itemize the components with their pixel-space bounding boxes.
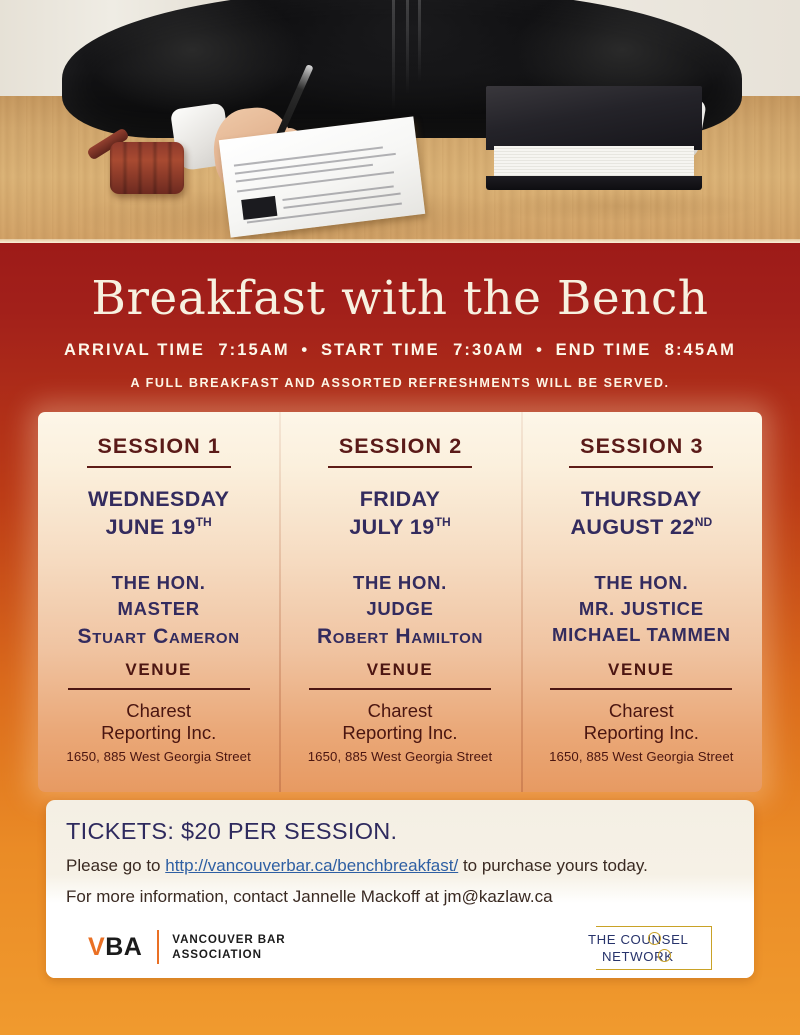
event-times: ARRIVAL TIME 7:15AM • START TIME 7:30AM … xyxy=(0,341,800,360)
arrival-time-label: ARRIVAL TIME xyxy=(64,341,205,359)
session-2-date: FRIDAY JULY 19TH xyxy=(287,485,512,542)
session-3-venue-label: VENUE xyxy=(521,660,762,680)
session-2-month-day: JULY 19 xyxy=(349,515,434,539)
session-2-venue-name-line-2: Reporting Inc. xyxy=(342,722,457,743)
session-1-date: WEDNESDAY JUNE 19TH xyxy=(46,485,271,542)
session-2-title-line-1: THE HON. xyxy=(353,572,447,593)
session-1-title-line-1: THE HON. xyxy=(112,572,206,593)
session-3-venue-name: Charest Reporting Inc. xyxy=(521,700,762,744)
tickets-url-link[interactable]: http://vancouverbar.ca/benchbreakfast/ xyxy=(165,856,458,875)
session-2-weekday: FRIDAY xyxy=(360,487,440,511)
session-column-2: SESSION 2 FRIDAY JULY 19TH THE HON. JUDG… xyxy=(279,412,520,792)
session-3-heading-number: 3 xyxy=(691,434,703,458)
session-1-speaker: THE HON. MASTER Stuart Cameron xyxy=(46,570,271,652)
session-3-venue-name-line-1: Charest xyxy=(609,700,674,721)
session-1-date-suffix: TH xyxy=(196,515,212,529)
session-3-date: THURSDAY AUGUST 22ND xyxy=(529,485,754,542)
vba-logo: VBA VANCOUVER BAR ASSOCIATION xyxy=(88,930,286,964)
session-3-month-day: AUGUST 22 xyxy=(570,515,694,539)
session-3-venue-address: 1650, 885 West Georgia Street xyxy=(521,749,762,764)
session-2-venue-name: Charest Reporting Inc. xyxy=(279,700,520,744)
arrival-time-value: 7:15AM xyxy=(218,341,289,359)
session-column-3: SESSION 3 THURSDAY AUGUST 22ND THE HON. … xyxy=(521,412,762,792)
times-separator-1: • xyxy=(296,341,314,359)
photo-gavel-head xyxy=(110,142,184,194)
session-2-venue-name-line-1: Charest xyxy=(368,700,433,721)
session-2-title-line-2: JUDGE xyxy=(366,598,433,619)
session-2-heading-text: SESSION xyxy=(339,434,442,458)
counsel-network-ring-icon-2 xyxy=(658,949,671,962)
session-2-venue-address: 1650, 885 West Georgia Street xyxy=(279,749,520,764)
session-1-heading-text: SESSION xyxy=(97,434,200,458)
vba-logo-divider xyxy=(157,930,159,964)
footer-logo-bar: VBA VANCOUVER BAR ASSOCIATION THE COUNSE… xyxy=(46,918,754,978)
session-3-title-line-1: THE HON. xyxy=(594,572,688,593)
session-3-speaker: THE HON. MR. JUSTICE MICHAEL TAMMEN xyxy=(529,570,754,649)
vba-logo-letter-v: V xyxy=(88,933,105,961)
end-time-value: 8:45AM xyxy=(665,341,736,359)
session-3-heading: SESSION 3 xyxy=(529,434,754,459)
hero-photo-judge-signing xyxy=(0,0,800,243)
tickets-contact-line: For more information, contact Jannelle M… xyxy=(66,887,754,907)
session-1-weekday: WEDNESDAY xyxy=(88,487,229,511)
tickets-purchase-line: Please go to http://vancouverbar.ca/benc… xyxy=(66,856,754,876)
session-1-heading: SESSION 1 xyxy=(46,434,271,459)
session-1-venue-name-line-1: Charest xyxy=(126,700,191,721)
session-2-judge-name: Robert Hamilton xyxy=(317,625,483,648)
session-2-date-suffix: TH xyxy=(435,515,451,529)
page-title: Breakfast with the Bench xyxy=(0,243,800,322)
session-2-venue-label: VENUE xyxy=(279,660,520,680)
page-title-text: Breakfast with the Bench xyxy=(91,271,708,326)
tickets-heading: TICKETS: $20 PER SESSION. xyxy=(66,818,754,845)
session-3-venue-name-line-2: Reporting Inc. xyxy=(584,722,699,743)
breakfast-note: A FULL BREAKFAST AND ASSORTED REFRESHMEN… xyxy=(0,376,800,390)
counsel-network-line-1: THE COUNSEL xyxy=(588,932,688,947)
session-1-venue-rule xyxy=(68,688,250,690)
start-time-value: 7:30AM xyxy=(453,341,524,359)
session-1-heading-number: 1 xyxy=(208,434,220,458)
session-2-heading-rule xyxy=(328,466,472,468)
session-3-heading-rule xyxy=(569,466,713,468)
session-3-heading-text: SESSION xyxy=(580,434,683,458)
session-1-judge-name: Stuart Cameron xyxy=(78,625,240,648)
photo-law-book xyxy=(486,86,702,190)
tickets-purchase-suffix: to purchase yours today. xyxy=(458,856,648,875)
vba-logo-mark: VBA xyxy=(88,935,142,960)
session-1-month-day: JUNE 19 xyxy=(106,515,196,539)
end-time-label: END TIME xyxy=(556,341,652,359)
counsel-network-logo: THE COUNSEL NETWORK xyxy=(596,926,712,970)
session-3-venue-rule xyxy=(550,688,732,690)
session-2-venue-rule xyxy=(309,688,491,690)
session-3-title-line-2: MR. JUSTICE xyxy=(579,598,704,619)
session-2-heading-number: 2 xyxy=(449,434,461,458)
vba-logo-wordmark: VANCOUVER BAR ASSOCIATION xyxy=(172,932,285,963)
session-column-1: SESSION 1 WEDNESDAY JUNE 19TH THE HON. M… xyxy=(38,412,279,792)
photo-document-stamp xyxy=(241,196,277,220)
session-1-venue-label: VENUE xyxy=(38,660,279,680)
session-1-title-line-2: MASTER xyxy=(118,598,200,619)
vba-logo-line-2: ASSOCIATION xyxy=(172,948,262,961)
session-1-venue-name: Charest Reporting Inc. xyxy=(38,700,279,744)
session-1-heading-rule xyxy=(87,466,231,468)
tickets-panel: TICKETS: $20 PER SESSION. Please go to h… xyxy=(46,800,754,978)
session-2-heading: SESSION 2 xyxy=(287,434,512,459)
tickets-purchase-prefix: Please go to xyxy=(66,856,165,875)
session-3-date-suffix: ND xyxy=(695,515,712,529)
session-2-speaker: THE HON. JUDGE Robert Hamilton xyxy=(287,570,512,652)
session-1-venue-name-line-2: Reporting Inc. xyxy=(101,722,216,743)
poster: Breakfast with the Bench ARRIVAL TIME 7:… xyxy=(0,0,800,1035)
counsel-network-ring-icon-1 xyxy=(648,932,661,945)
session-3-judge-name: MICHAEL TAMMEN xyxy=(552,624,731,645)
session-3-weekday: THURSDAY xyxy=(581,487,702,511)
start-time-label: START TIME xyxy=(321,341,440,359)
vba-logo-line-1: VANCOUVER BAR xyxy=(172,933,285,946)
title-block: Breakfast with the Bench ARRIVAL TIME 7:… xyxy=(0,243,800,390)
times-separator-2: • xyxy=(531,341,549,359)
session-1-venue-address: 1650, 885 West Georgia Street xyxy=(38,749,279,764)
sessions-panel: SESSION 1 WEDNESDAY JUNE 19TH THE HON. M… xyxy=(38,412,762,792)
vba-logo-letters-ba: BA xyxy=(105,933,142,961)
